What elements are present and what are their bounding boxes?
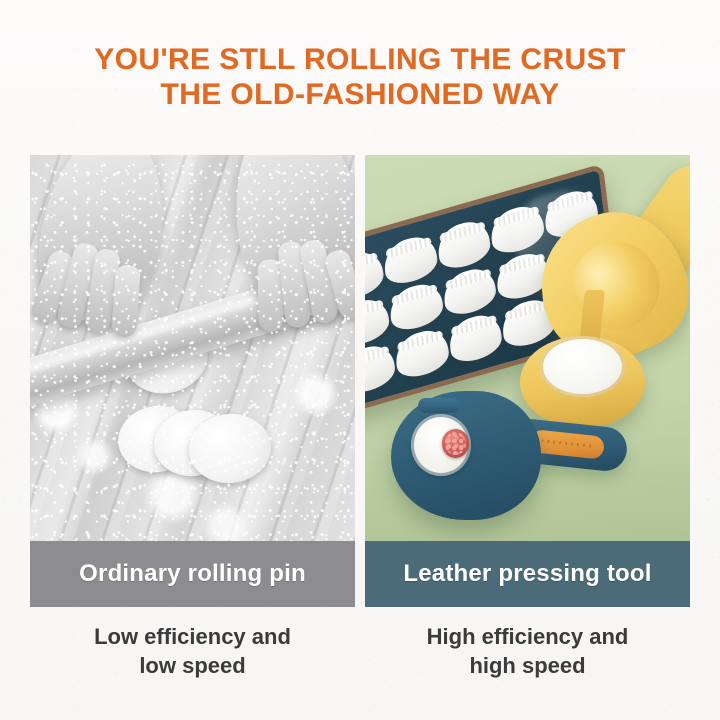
dumpling <box>446 310 503 367</box>
subcaption-right: High efficiency and high speed <box>365 622 690 680</box>
page-title: YOU'RE STLL ROLLING THE CRUST THE OLD-FA… <box>0 42 720 112</box>
caption-ordinary-rolling-pin: Ordinary rolling pin <box>30 541 355 607</box>
panel-ordinary-rolling-pin: Ordinary rolling pin <box>30 155 355 607</box>
subcaption-right-line-2: high speed <box>365 651 690 680</box>
blue-maker-body <box>391 391 541 520</box>
photo-rolling-pin <box>30 155 355 541</box>
subcaption-left: Low efficiency and low speed <box>30 622 355 680</box>
blue-maker-hinge <box>418 398 460 412</box>
subcaption-left-line-2: low speed <box>30 651 355 680</box>
dumpling <box>393 325 450 382</box>
headline-line-2: THE OLD-FASHIONED WAY <box>0 77 720 112</box>
comparison-panels: Ordinary rolling pin <box>30 155 690 607</box>
caption-leather-pressing-tool: Leather pressing tool <box>365 541 690 607</box>
panel-leather-pressing-tool: Leather pressing tool <box>365 155 690 607</box>
subcaptions: Low efficiency and low speed High effici… <box>30 622 690 680</box>
meat-filling <box>442 429 469 457</box>
photo-pressing-tool <box>365 155 690 541</box>
subcaption-right-line-1: High efficiency and <box>427 624 629 649</box>
headline-line-1: YOU'RE STLL ROLLING THE CRUST <box>0 42 720 77</box>
subcaption-left-line-1: Low efficiency and <box>94 624 291 649</box>
flour-speckles <box>30 155 355 541</box>
blue-dumpling-maker <box>391 379 619 526</box>
